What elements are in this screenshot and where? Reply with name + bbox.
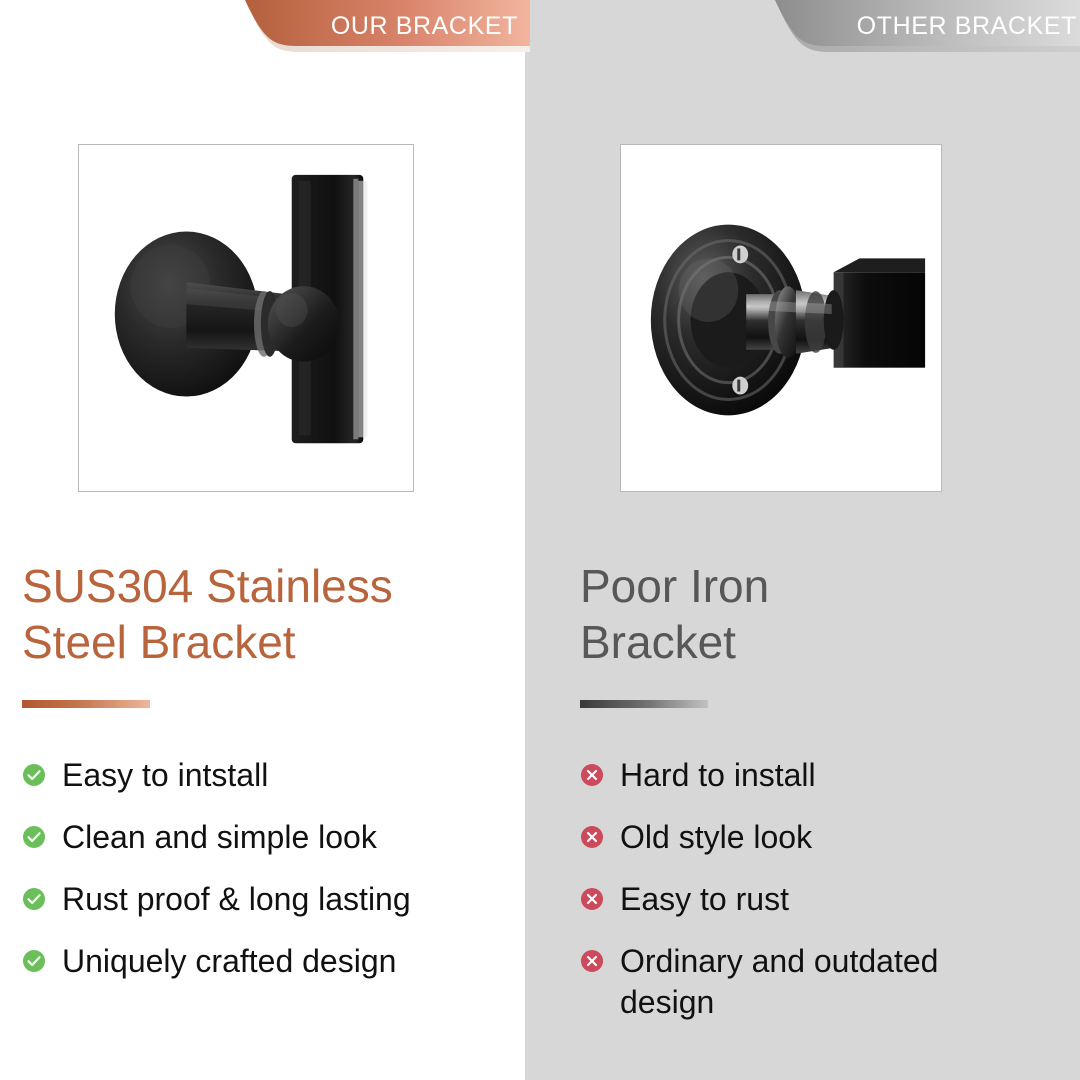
list-item: Hard to install [580,755,1040,796]
our-bracket-feature-list: Easy to intstall Clean and simple look R… [22,755,482,1003]
list-item-label: Easy to rust [620,879,789,920]
list-item: Old style look [580,817,1040,858]
list-item-label: Easy to intstall [62,755,268,796]
our-bracket-banner: OUR BRACKET [245,0,530,58]
list-item: Uniquely crafted design [22,941,482,982]
list-item-label: Ordinary and outdated design [620,941,1040,1023]
comparison-infographic: OUR BRACKET OTHER BRACKET [0,0,1080,1080]
cross-circle-icon [580,949,604,973]
list-item: Easy to intstall [22,755,482,796]
list-item-label: Hard to install [620,755,816,796]
other-bracket-feature-list: Hard to install Old style look Easy to r… [580,755,1040,1044]
check-circle-icon [22,763,46,787]
our-bracket-banner-label: OUR BRACKET [331,0,518,52]
list-item-label: Old style look [620,817,812,858]
check-circle-icon [22,949,46,973]
cross-circle-icon [580,825,604,849]
cross-circle-icon [580,887,604,911]
our-bracket-heading: SUS304 Stainless Steel Bracket [22,558,492,670]
other-bracket-accent-bar [580,700,708,708]
list-item: Easy to rust [580,879,1040,920]
other-bracket-photo [620,144,942,492]
check-circle-icon [22,825,46,849]
list-item: Rust proof & long lasting [22,879,482,920]
check-circle-icon [22,887,46,911]
our-bracket-photo [78,144,414,492]
other-bracket-banner: OTHER BRACKET [775,0,1080,58]
list-item-label: Clean and simple look [62,817,377,858]
list-item: Clean and simple look [22,817,482,858]
list-item-label: Uniquely crafted design [62,941,396,982]
our-bracket-accent-bar [22,700,150,708]
other-bracket-banner-label: OTHER BRACKET [857,0,1077,52]
cross-circle-icon [580,763,604,787]
list-item-label: Rust proof & long lasting [62,879,411,920]
list-item: Ordinary and outdated design [580,941,1040,1023]
other-bracket-heading: Poor Iron Bracket [580,558,1050,670]
